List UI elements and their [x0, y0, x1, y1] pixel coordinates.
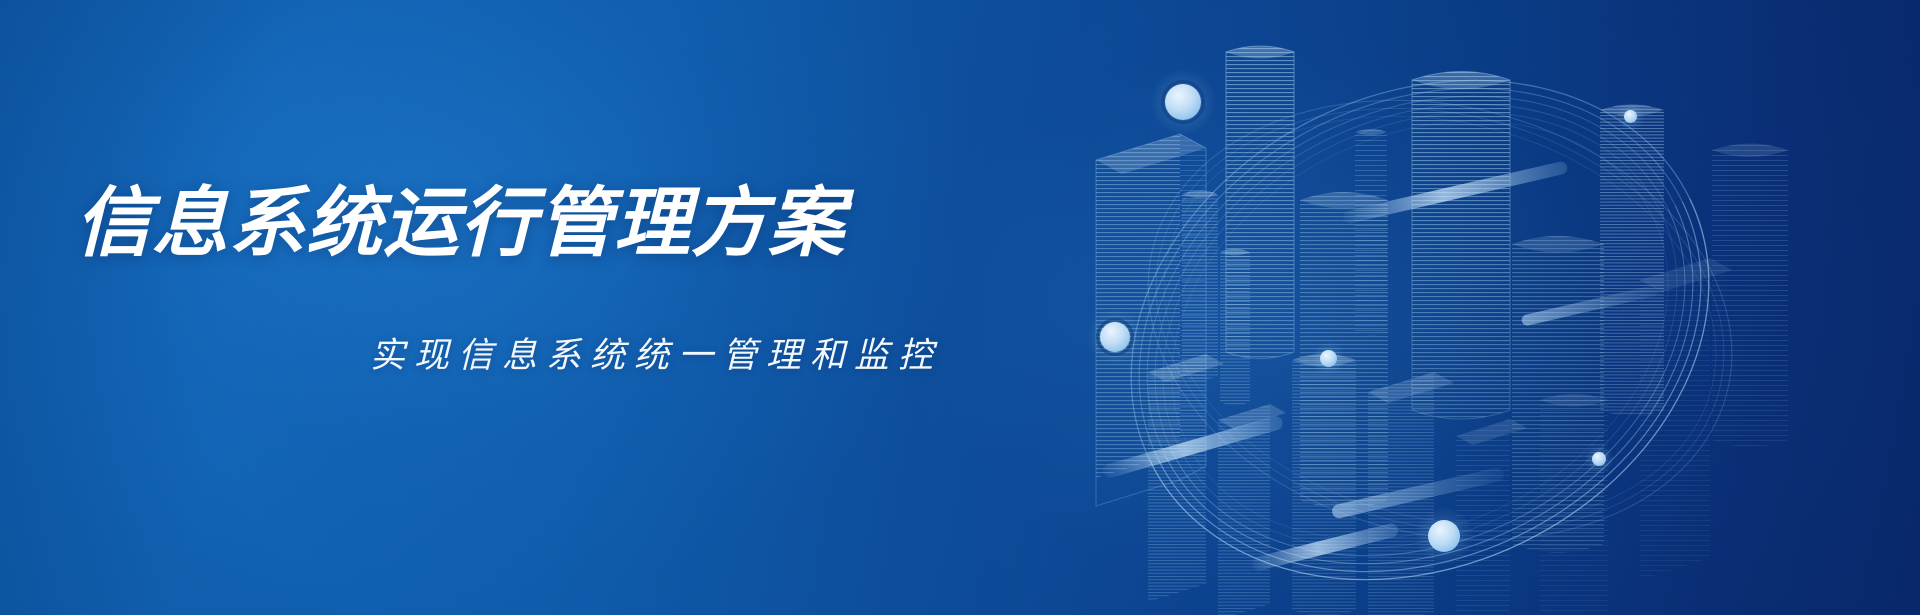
node-edge-right — [1592, 452, 1606, 466]
headline-block: 信息系统运行管理方案 实现信息系统统一管理和监控 — [0, 0, 1000, 615]
building-back-5 — [1712, 144, 1788, 448]
banner-hero: 信息系统运行管理方案 实现信息系统统一管理和监控 — [0, 0, 1920, 615]
building-front-6 — [1540, 394, 1608, 615]
node-bottom — [1428, 520, 1460, 552]
node-far-right — [1624, 110, 1637, 123]
city-illustration — [900, 0, 1920, 615]
building-front-3 — [1292, 354, 1356, 615]
banner-subheadline: 实现信息系统统一管理和监控 — [370, 327, 942, 378]
building-back-2 — [1412, 72, 1510, 420]
node-top-left — [1165, 84, 1201, 120]
node-small-right — [1320, 350, 1337, 367]
building-mid-4 — [1220, 249, 1250, 406]
node-mid-left — [1100, 322, 1130, 352]
banner-headline: 信息系统运行管理方案 — [75, 186, 845, 262]
building-mid-3 — [1182, 191, 1218, 381]
